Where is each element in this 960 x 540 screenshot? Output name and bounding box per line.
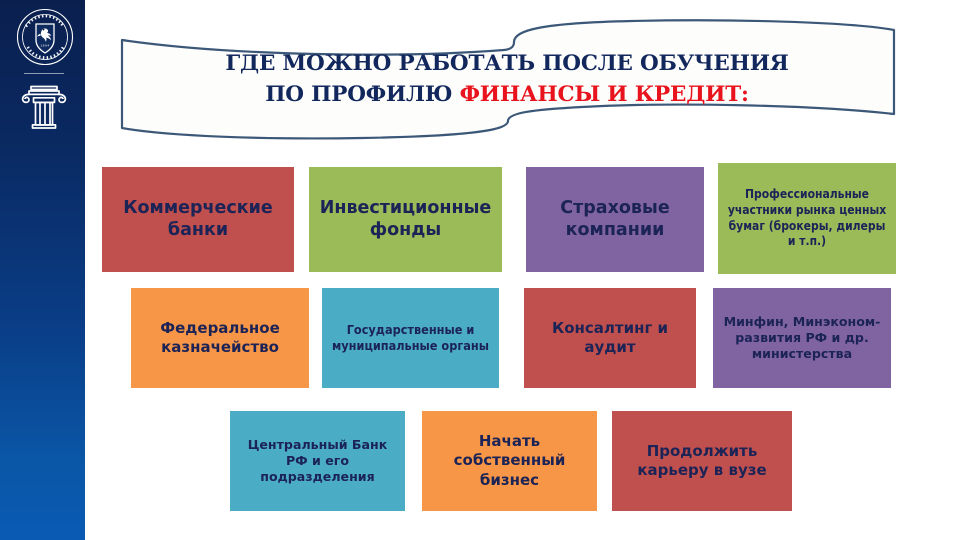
career-box-label: Продолжить карьеру в вузе <box>618 442 786 481</box>
title-line-2: ПО ПРОФИЛЮ ФИНАНСЫ И КРЕДИТ: <box>265 80 749 111</box>
svg-text:1804: 1804 <box>40 43 49 47</box>
sidebar-divider <box>24 73 64 74</box>
career-box-label: Страховые компании <box>532 198 698 242</box>
university-seal-icon: 1804 <box>16 8 74 66</box>
brand-sidebar <box>0 0 85 540</box>
career-box-label: Центральный Банк РФ и его подразделения <box>236 437 399 485</box>
career-box-label: Государственные и муниципальные органы <box>328 322 493 354</box>
sidebar-edge <box>85 0 88 540</box>
career-box-state-municipal-bodies[interactable]: Государственные и муниципальные органы <box>322 288 499 388</box>
career-box-label: Федеральное казначейство <box>137 319 303 358</box>
title-text-block: ГДЕ МОЖНО РАБОТАТЬ ПОСЛЕ ОБУЧЕНИЯ ПО ПРО… <box>112 10 902 147</box>
career-box-insurance-companies[interactable]: Страховые компании <box>526 167 704 272</box>
career-box-central-bank[interactable]: Центральный Банк РФ и его подразделения <box>230 411 405 511</box>
career-box-commercial-banks[interactable]: Коммерческие банки <box>102 167 294 272</box>
career-box-ministries[interactable]: Минфин, Минэконом-развития РФ и др. мини… <box>713 288 891 388</box>
career-box-own-business[interactable]: Начать собственный бизнес <box>422 411 597 511</box>
career-box-investment-funds[interactable]: Инвестиционные фонды <box>309 167 502 272</box>
title-line-2-highlight: ФИНАНСЫ И КРЕДИТ: <box>460 82 749 107</box>
career-box-label: Коммерческие банки <box>108 198 288 242</box>
slide-canvas: 1804 <box>0 0 960 540</box>
career-box-label: Минфин, Минэконом-развития РФ и др. мини… <box>719 314 885 362</box>
career-box-securities-market-participants[interactable]: Профессиональные участники рынка ценных … <box>718 163 896 274</box>
title-banner: ГДЕ МОЖНО РАБОТАТЬ ПОСЛЕ ОБУЧЕНИЯ ПО ПРО… <box>112 10 902 145</box>
career-box-federal-treasury[interactable]: Федеральное казначейство <box>131 288 309 388</box>
career-box-label: Профессиональные участники рынка ценных … <box>724 187 890 249</box>
ionic-column-icon <box>18 82 70 130</box>
career-box-label: Консалтинг и аудит <box>530 319 690 358</box>
title-line-1: ГДЕ МОЖНО РАБОТАТЬ ПОСЛЕ ОБУЧЕНИЯ <box>225 49 788 80</box>
title-line-2-prefix: ПО ПРОФИЛЮ <box>265 82 459 107</box>
career-box-university-career[interactable]: Продолжить карьеру в вузе <box>612 411 792 511</box>
career-box-label: Начать собственный бизнес <box>428 432 591 491</box>
career-box-label: Инвестиционные фонды <box>315 198 496 242</box>
career-box-consulting-audit[interactable]: Консалтинг и аудит <box>524 288 696 388</box>
